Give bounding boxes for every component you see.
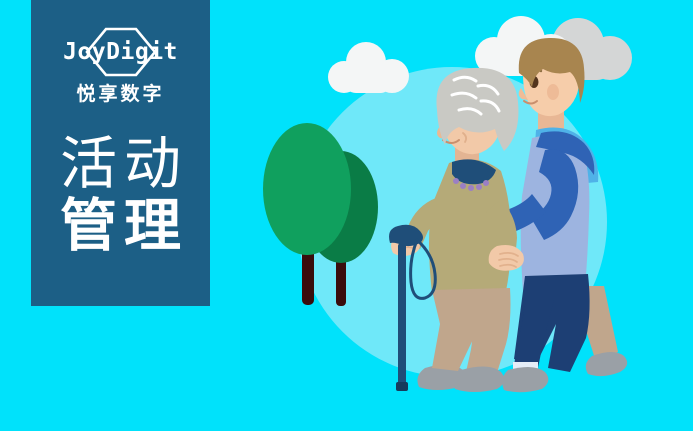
activity-management-banner: JoyDigit 悦享数字 活动 管理 bbox=[0, 0, 693, 431]
caregiver-front-shoe bbox=[502, 367, 548, 392]
cane-shaft bbox=[398, 243, 406, 389]
page-title: 活动 管理 bbox=[31, 133, 210, 257]
info-panel: JoyDigit 悦享数字 活动 管理 bbox=[31, 0, 210, 306]
cane-tip bbox=[396, 382, 408, 391]
logo-mark: JoyDigit bbox=[31, 26, 210, 78]
brand-logo: JoyDigit 悦享数字 bbox=[31, 26, 210, 107]
page-title-line-2: 管理 bbox=[31, 195, 210, 257]
elder-front-shoe bbox=[453, 366, 504, 392]
logo-wordmark: JoyDigit bbox=[31, 39, 210, 65]
logo-subtitle: 悦享数字 bbox=[31, 83, 210, 107]
tree-front-foliage bbox=[263, 123, 351, 255]
page-title-line-1: 活动 bbox=[31, 133, 210, 195]
